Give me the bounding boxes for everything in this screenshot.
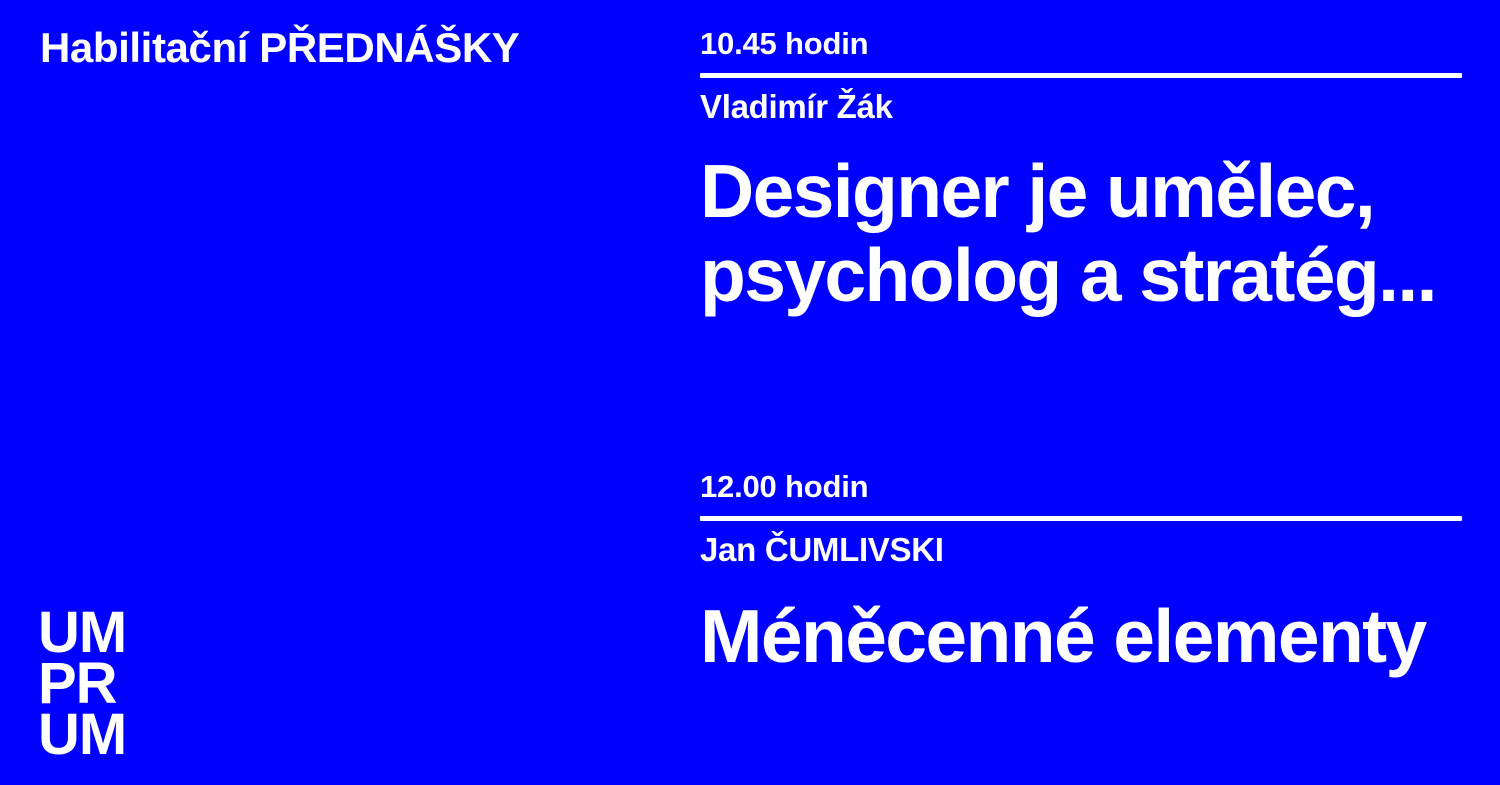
page-title: Habilitační PŘEDNÁŠKY [40,26,519,70]
lecture-headline: Méněcenné elementy [700,594,1440,678]
lecture-headline: Designer je umělec, psycholog a stratég.… [700,149,1440,317]
umprum-logo: UM PR UM [38,607,126,760]
poster-canvas: Habilitační PŘEDNÁŠKY UM PR UM 10.45 hod… [0,0,1500,785]
lecture-time: 10.45 hodin [700,27,1462,61]
lecture-list: 10.45 hodin Vladimír Žák Designer je umě… [700,0,1462,785]
lecture-entry: 10.45 hodin Vladimír Žák Designer je umě… [700,27,1462,317]
lecture-time: 12.00 hodin [700,470,1462,504]
lecture-entry: 12.00 hodin Jan ČUMLIVSKI Méněcenné elem… [700,470,1462,678]
logo-row-3: UM [38,709,126,760]
divider-rule [700,516,1462,521]
lecture-speaker: Vladimír Žák [700,89,1462,125]
divider-rule [700,73,1462,78]
lecture-speaker: Jan ČUMLIVSKI [700,532,1462,568]
